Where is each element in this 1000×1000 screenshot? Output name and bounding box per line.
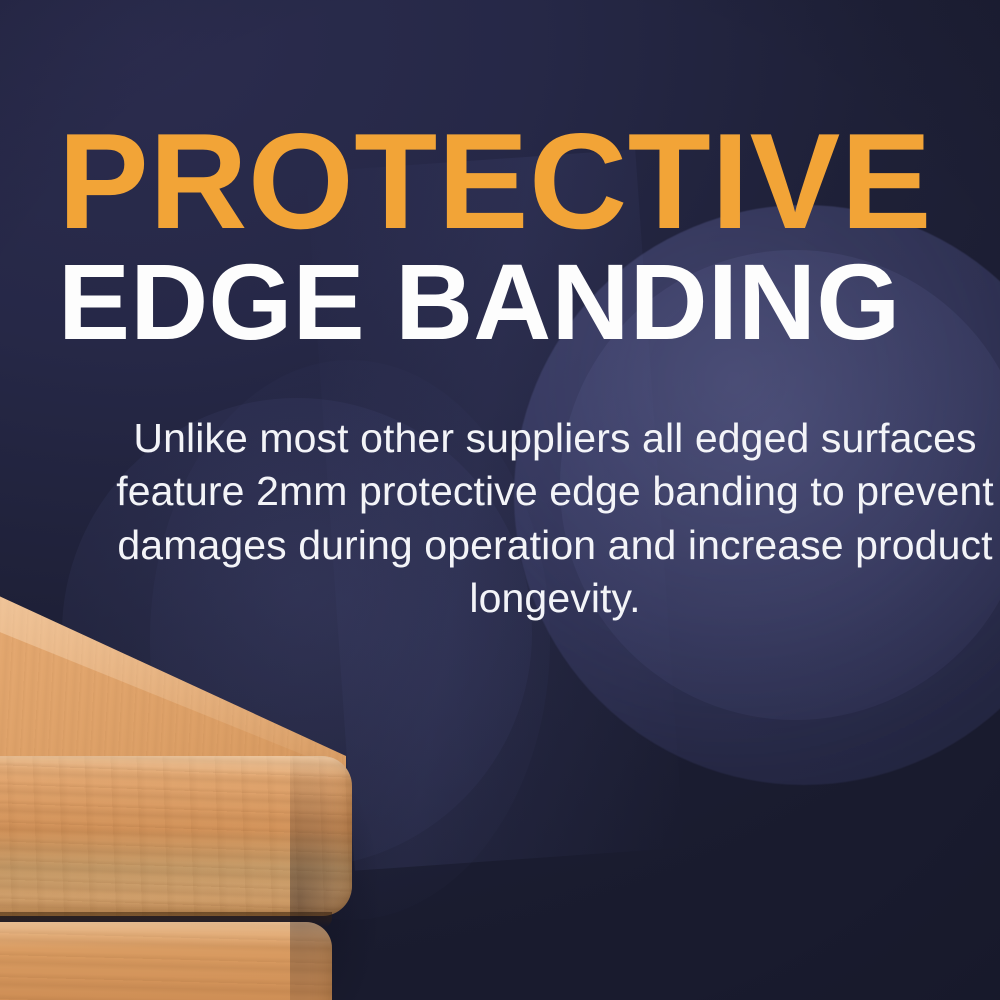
poster-canvas: PROTECTIVE EDGE BANDING Unlike most othe… — [0, 0, 1000, 1000]
headline-block: PROTECTIVE EDGE BANDING — [58, 118, 958, 354]
headline-primary: PROTECTIVE — [58, 118, 958, 246]
wood-drop-shadow — [290, 750, 380, 1000]
headline-secondary: EDGE BANDING — [58, 250, 958, 354]
wood-panel-lower-highlight — [0, 922, 332, 1000]
wood-desk-corner-graphic — [0, 560, 400, 1000]
